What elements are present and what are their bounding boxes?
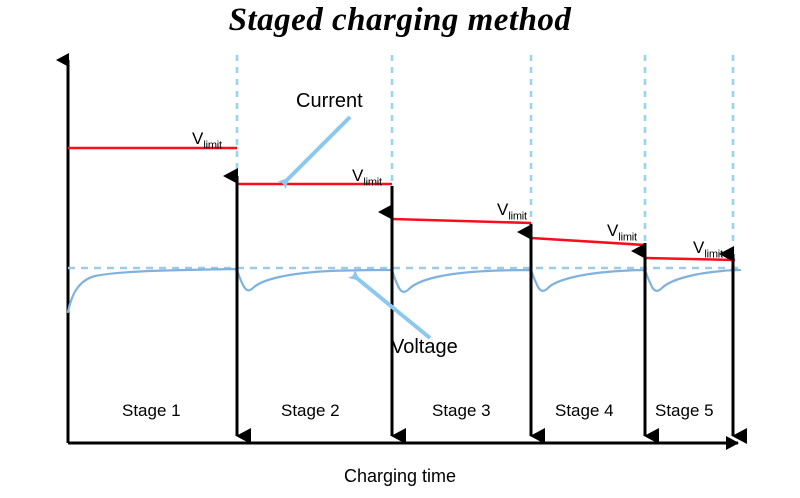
diagram-root: Staged charging method	[0, 0, 800, 498]
vlimit-subscript: limit	[203, 139, 222, 151]
stage-boundary-guides	[237, 55, 733, 262]
stage-label-1: Stage 1	[122, 401, 181, 421]
vlimit-label-stage-1: Vlimit	[192, 129, 222, 151]
vlimit-base: V	[192, 129, 203, 148]
vlimit-subscript: limit	[363, 176, 382, 188]
vlimit-base: V	[693, 238, 704, 257]
vlimit-base: V	[607, 221, 618, 240]
stage-label-5: Stage 5	[655, 401, 714, 421]
vlimit-subscript: limit	[618, 231, 637, 243]
stage-dividers	[237, 182, 733, 436]
vlimit-base: V	[352, 166, 363, 185]
current-annotation-arrow	[283, 117, 350, 184]
stage-label-2: Stage 2	[281, 401, 340, 421]
voltage-annotation-label: Voltage	[391, 336, 458, 359]
vlimit-label-stage-2: Vlimit	[352, 166, 382, 188]
vlimit-base: V	[497, 200, 508, 219]
vlimit-label-stage-3: Vlimit	[497, 200, 527, 222]
stage-label-3: Stage 3	[432, 401, 491, 421]
chart-canvas	[0, 0, 800, 498]
vlimit-label-stage-5: Vlimit	[693, 238, 723, 260]
voltage-curve	[68, 269, 740, 312]
vlimit-label-stage-4: Vlimit	[607, 221, 637, 243]
stage-label-4: Stage 4	[555, 401, 614, 421]
stage-step-arrows	[237, 176, 733, 300]
current-annotation-label: Current	[296, 90, 363, 113]
vlimit-subscript: limit	[508, 210, 527, 222]
vlimit-subscript: limit	[704, 248, 723, 260]
x-axis-label: Charging time	[0, 466, 800, 487]
